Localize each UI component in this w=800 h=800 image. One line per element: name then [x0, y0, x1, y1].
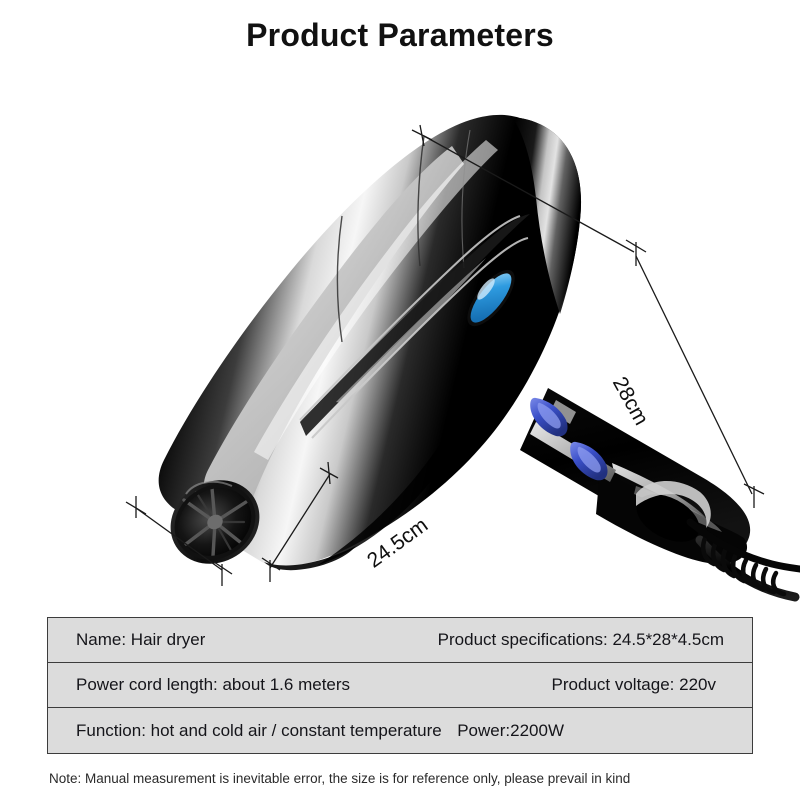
spec-table: Name: Hair dryer Product specifications:… — [47, 617, 753, 754]
spec-function: Function: hot and cold air / constant te… — [48, 721, 442, 741]
spec-name: Name: Hair dryer — [48, 630, 205, 650]
note-text: Note: Manual measurement is inevitable e… — [49, 771, 630, 786]
spec-cord-length: Power cord length: about 1.6 meters — [48, 675, 350, 695]
table-row: Name: Hair dryer Product specifications:… — [48, 618, 752, 663]
page-title: Product Parameters — [0, 17, 800, 54]
table-row: Function: hot and cold air / constant te… — [48, 708, 752, 753]
spec-specifications: Product specifications: 24.5*28*4.5cm — [438, 630, 752, 650]
spec-voltage: Product voltage: 220v — [552, 675, 752, 695]
spec-power: Power:2200W — [457, 721, 752, 741]
product-image: 28cm 24.5cm 4.5cm — [0, 70, 800, 610]
table-row: Power cord length: about 1.6 meters Prod… — [48, 663, 752, 708]
